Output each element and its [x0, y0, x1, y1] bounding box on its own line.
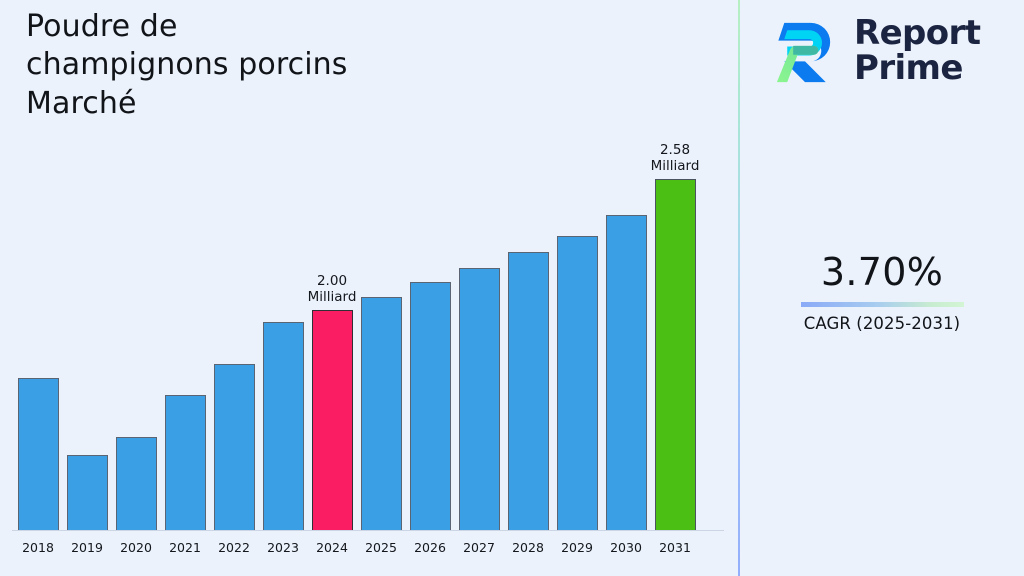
bar-group: [63, 30, 111, 530]
branding-panel: Report Prime 3.70% CAGR (2025-2031): [740, 0, 1024, 576]
bar-chart-plot: 2.00 Milliard2.58 Milliard 2018201920202…: [0, 0, 738, 576]
bar-group: [112, 30, 160, 530]
bar-group: [14, 30, 62, 530]
bar-group: [406, 30, 454, 530]
bar-group: [210, 30, 258, 530]
cagr-caption: CAGR (2025-2031): [740, 314, 1024, 333]
bar-group: 2.00 Milliard: [308, 30, 356, 530]
bar-group: [553, 30, 601, 530]
chart-infographic: Poudre de champignons porcins Marché 2.0…: [0, 0, 1024, 576]
bar-group: 2.58 Milliard: [651, 30, 699, 530]
bar-2021[interactable]: [165, 395, 206, 530]
bar-value-label: 2.58 Milliard: [651, 142, 700, 174]
bar-2023[interactable]: [263, 322, 304, 530]
bar-2018[interactable]: [18, 378, 59, 530]
x-tick-2031: 2031: [645, 540, 705, 555]
cagr-value: 3.70%: [740, 250, 1024, 294]
bar-group: [602, 30, 650, 530]
bar-2031[interactable]: [655, 179, 696, 530]
bar-2025[interactable]: [361, 297, 402, 530]
bar-2020[interactable]: [116, 437, 157, 530]
bar-2022[interactable]: [214, 364, 255, 530]
bar-group: [357, 30, 405, 530]
bar-2024[interactable]: [312, 310, 353, 530]
report-prime-logo-text: Report Prime: [854, 16, 980, 86]
bar-2030[interactable]: [606, 215, 647, 530]
bar-group: [161, 30, 209, 530]
bar-2027[interactable]: [459, 268, 500, 530]
bar-2019[interactable]: [67, 455, 108, 530]
bar-2028[interactable]: [508, 252, 549, 530]
bar-group: [455, 30, 503, 530]
bar-group: [504, 30, 552, 530]
report-prime-logo-icon: [768, 14, 842, 88]
x-axis-line: [12, 530, 724, 531]
report-prime-logo: Report Prime: [768, 14, 980, 88]
bar-2026[interactable]: [410, 282, 451, 530]
chart-panel: Poudre de champignons porcins Marché 2.0…: [0, 0, 738, 576]
bar-2029[interactable]: [557, 236, 598, 530]
cagr-block: 3.70% CAGR (2025-2031): [740, 250, 1024, 333]
bar-group: [259, 30, 307, 530]
bar-value-label: 2.00 Milliard: [308, 273, 357, 305]
cagr-divider: [801, 302, 964, 307]
